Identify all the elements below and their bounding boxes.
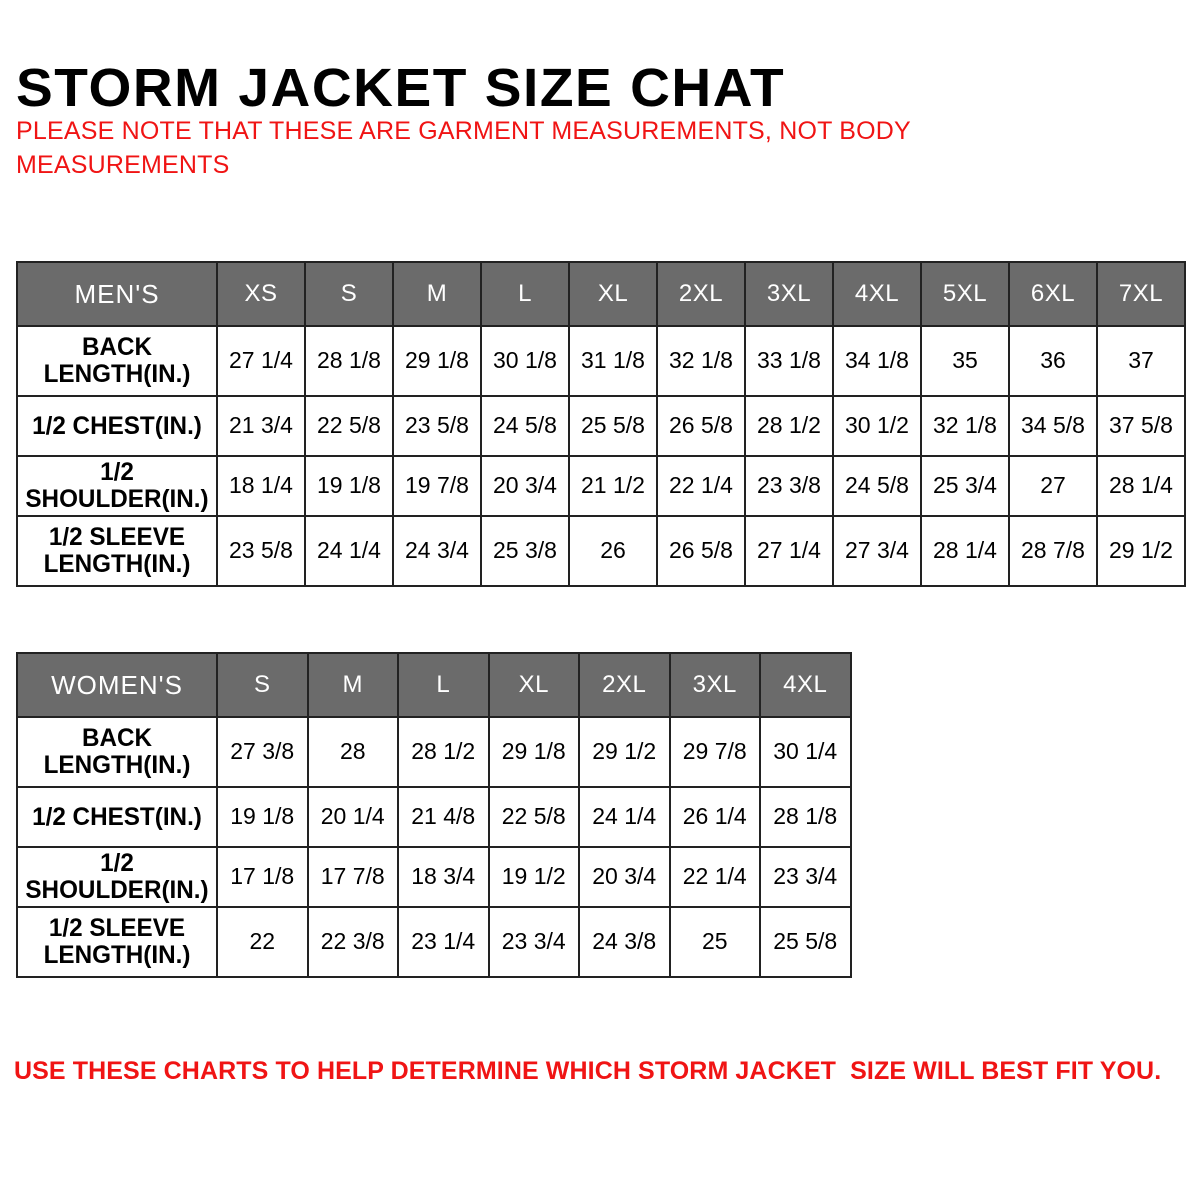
measurement-cell: 26 1/4 (670, 787, 761, 847)
measurement-cell: 25 3/4 (921, 456, 1009, 516)
column-header-xl: XL (569, 262, 657, 326)
measurement-cell: 20 1/4 (308, 787, 399, 847)
measurement-cell: 26 (569, 516, 657, 586)
measurement-cell: 22 1/4 (670, 847, 761, 907)
womens-size-table: WOMEN'SSMLXL2XL3XL4XL BACK LENGTH(IN.)27… (16, 652, 852, 978)
table-row: 1/2 SHOULDER(IN.)18 1/419 1/819 7/820 3/… (17, 456, 1185, 516)
garment-measurement-note: PLEASE NOTE THAT THESE ARE GARMENT MEASU… (16, 115, 1026, 183)
womens-table-head: WOMEN'SSMLXL2XL3XL4XL (17, 653, 851, 717)
measurement-cell: 27 1/4 (745, 516, 833, 586)
column-header-m: M (308, 653, 399, 717)
measurement-cell: 24 5/8 (481, 396, 569, 456)
measurement-cell: 27 1/4 (217, 326, 305, 396)
measurement-cell: 25 3/8 (481, 516, 569, 586)
measurement-cell: 27 (1009, 456, 1097, 516)
row-label: BACK LENGTH(IN.) (20, 717, 214, 787)
measurement-cell: 35 (921, 326, 1009, 396)
measurement-cell: 21 4/8 (398, 787, 489, 847)
measurement-cell: 28 1/4 (921, 516, 1009, 586)
mens-corner-header: MEN'S (17, 262, 217, 326)
measurement-cell: 37 5/8 (1097, 396, 1185, 456)
measurement-cell: 22 1/4 (657, 456, 745, 516)
measurement-cell: 18 1/4 (217, 456, 305, 516)
measurement-cell: 22 5/8 (489, 787, 580, 847)
measurement-cell: 31 1/8 (569, 326, 657, 396)
measurement-cell: 25 (670, 907, 761, 977)
measurement-cell: 28 1/2 (398, 717, 489, 787)
column-header-4xl: 4XL (760, 653, 851, 717)
table-row: 1/2 CHEST(IN.)21 3/422 5/823 5/824 5/825… (17, 396, 1185, 456)
measurement-cell: 30 1/4 (760, 717, 851, 787)
table-row: 1/2 SLEEVE LENGTH(IN.)2222 3/823 1/423 3… (17, 907, 851, 977)
measurement-cell: 24 1/4 (579, 787, 670, 847)
measurement-cell: 29 1/2 (1097, 516, 1185, 586)
measurement-cell: 17 1/8 (217, 847, 308, 907)
column-header-s: S (305, 262, 393, 326)
measurement-cell: 30 1/8 (481, 326, 569, 396)
row-label: BACK LENGTH(IN.) (20, 326, 214, 396)
measurement-cell: 23 3/4 (760, 847, 851, 907)
row-label: 1/2 CHEST(IN.) (20, 396, 214, 456)
measurement-cell: 22 3/8 (308, 907, 399, 977)
column-header-5xl: 5XL (921, 262, 1009, 326)
measurement-cell: 23 5/8 (217, 516, 305, 586)
measurement-cell: 25 5/8 (569, 396, 657, 456)
measurement-cell: 19 1/2 (489, 847, 580, 907)
column-header-7xl: 7XL (1097, 262, 1185, 326)
measurement-cell: 36 (1009, 326, 1097, 396)
row-label: 1/2 SLEEVE LENGTH(IN.) (20, 907, 214, 977)
measurement-cell: 28 7/8 (1009, 516, 1097, 586)
measurement-cell: 28 1/2 (745, 396, 833, 456)
measurement-cell: 19 1/8 (217, 787, 308, 847)
column-header-l: L (481, 262, 569, 326)
measurement-cell: 22 5/8 (305, 396, 393, 456)
measurement-cell: 34 1/8 (833, 326, 921, 396)
measurement-cell: 23 1/4 (398, 907, 489, 977)
measurement-cell: 23 5/8 (393, 396, 481, 456)
column-header-s: S (217, 653, 308, 717)
measurement-cell: 32 1/8 (921, 396, 1009, 456)
mens-size-table: MEN'SXSSMLXL2XL3XL4XL5XL6XL7XL BACK LENG… (16, 261, 1186, 587)
column-header-m: M (393, 262, 481, 326)
measurement-cell: 24 3/4 (393, 516, 481, 586)
column-header-2xl: 2XL (657, 262, 745, 326)
measurement-cell: 32 1/8 (657, 326, 745, 396)
measurement-cell: 28 1/8 (760, 787, 851, 847)
measurement-cell: 25 5/8 (760, 907, 851, 977)
measurement-cell: 29 7/8 (670, 717, 761, 787)
measurement-cell: 19 1/8 (305, 456, 393, 516)
page-title: STORM JACKET SIZE CHAT (16, 60, 785, 117)
mens-table-body: BACK LENGTH(IN.)27 1/428 1/829 1/830 1/8… (17, 326, 1185, 586)
womens-header-row: WOMEN'SSMLXL2XL3XL4XL (17, 653, 851, 717)
measurement-cell: 19 7/8 (393, 456, 481, 516)
row-label: 1/2 SHOULDER(IN.) (20, 847, 214, 907)
row-label: 1/2 SHOULDER(IN.) (20, 456, 214, 516)
mens-table-head: MEN'SXSSMLXL2XL3XL4XL5XL6XL7XL (17, 262, 1185, 326)
column-header-xl: XL (489, 653, 580, 717)
measurement-cell: 28 (308, 717, 399, 787)
measurement-cell: 33 1/8 (745, 326, 833, 396)
column-header-l: L (398, 653, 489, 717)
measurement-cell: 28 1/4 (1097, 456, 1185, 516)
table-row: 1/2 SLEEVE LENGTH(IN.)23 5/824 1/424 3/4… (17, 516, 1185, 586)
column-header-3xl: 3XL (745, 262, 833, 326)
column-header-4xl: 4XL (833, 262, 921, 326)
measurement-cell: 29 1/8 (393, 326, 481, 396)
help-determine-note: USE THESE CHARTS TO HELP DETERMINE WHICH… (14, 1056, 1184, 1086)
measurement-cell: 26 5/8 (657, 516, 745, 586)
row-label: 1/2 CHEST(IN.) (20, 787, 214, 847)
measurement-cell: 20 3/4 (579, 847, 670, 907)
womens-corner-header: WOMEN'S (17, 653, 217, 717)
measurement-cell: 20 3/4 (481, 456, 569, 516)
measurement-cell: 29 1/2 (579, 717, 670, 787)
column-header-3xl: 3XL (670, 653, 761, 717)
measurement-cell: 23 3/4 (489, 907, 580, 977)
table-row: 1/2 SHOULDER(IN.)17 1/817 7/818 3/419 1/… (17, 847, 851, 907)
table-row: 1/2 CHEST(IN.)19 1/820 1/421 4/822 5/824… (17, 787, 851, 847)
measurement-cell: 18 3/4 (398, 847, 489, 907)
measurement-cell: 24 3/8 (579, 907, 670, 977)
measurement-cell: 17 7/8 (308, 847, 399, 907)
measurement-cell: 22 (217, 907, 308, 977)
measurement-cell: 37 (1097, 326, 1185, 396)
measurement-cell: 23 3/8 (745, 456, 833, 516)
measurement-cell: 34 5/8 (1009, 396, 1097, 456)
measurement-cell: 27 3/8 (217, 717, 308, 787)
womens-table-body: BACK LENGTH(IN.)27 3/82828 1/229 1/829 1… (17, 717, 851, 977)
measurement-cell: 27 3/4 (833, 516, 921, 586)
measurement-cell: 24 1/4 (305, 516, 393, 586)
column-header-6xl: 6XL (1009, 262, 1097, 326)
row-label: 1/2 SLEEVE LENGTH(IN.) (20, 516, 214, 586)
table-row: BACK LENGTH(IN.)27 1/428 1/829 1/830 1/8… (17, 326, 1185, 396)
column-header-2xl: 2XL (579, 653, 670, 717)
size-chart-page: STORM JACKET SIZE CHAT PLEASE NOTE THAT … (0, 0, 1200, 1200)
measurement-cell: 24 5/8 (833, 456, 921, 516)
measurement-cell: 26 5/8 (657, 396, 745, 456)
table-row: BACK LENGTH(IN.)27 3/82828 1/229 1/829 1… (17, 717, 851, 787)
measurement-cell: 30 1/2 (833, 396, 921, 456)
measurement-cell: 21 3/4 (217, 396, 305, 456)
measurement-cell: 29 1/8 (489, 717, 580, 787)
mens-header-row: MEN'SXSSMLXL2XL3XL4XL5XL6XL7XL (17, 262, 1185, 326)
measurement-cell: 28 1/8 (305, 326, 393, 396)
column-header-xs: XS (217, 262, 305, 326)
measurement-cell: 21 1/2 (569, 456, 657, 516)
